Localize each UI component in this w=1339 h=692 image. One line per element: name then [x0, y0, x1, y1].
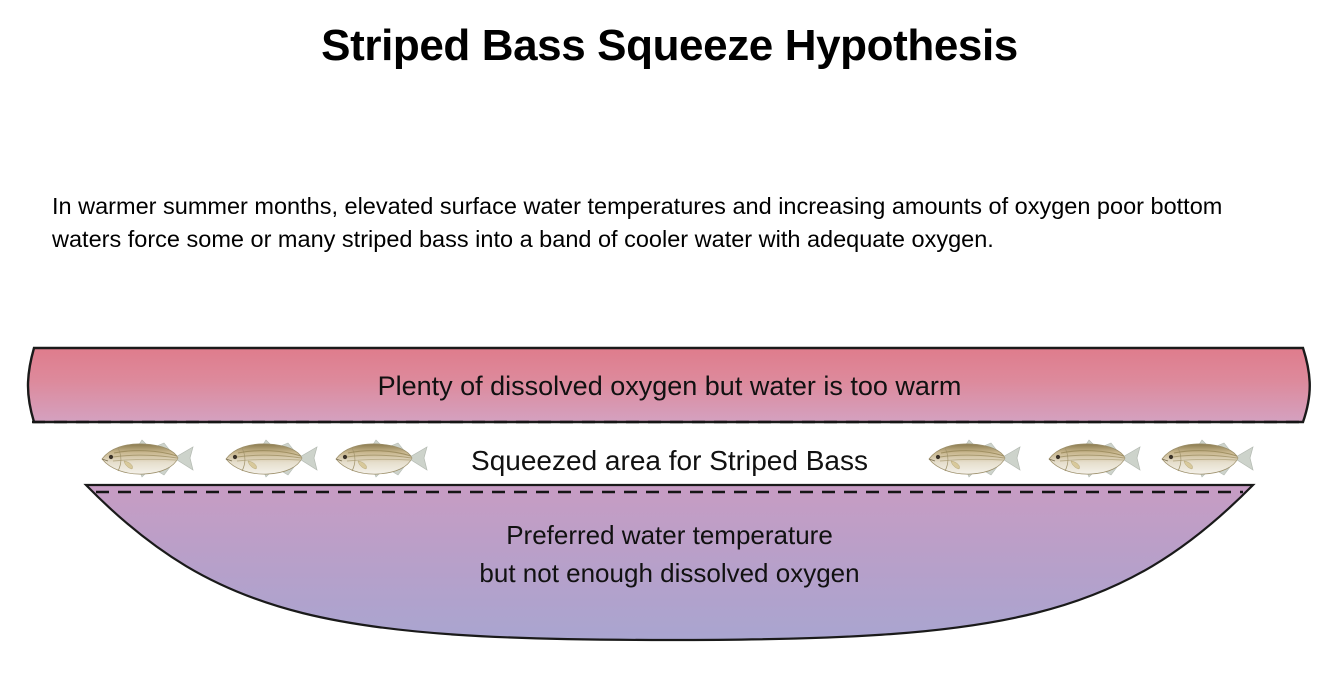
striped-bass-icon-2 — [222, 436, 320, 480]
cold-layer-label-line1: Preferred water temperature — [506, 520, 833, 550]
striped-bass-icon-3 — [332, 436, 430, 480]
intro-paragraph: In warmer summer months, elevated surfac… — [52, 190, 1292, 256]
warm-surface-layer-label: Plenty of dissolved oxygen but water is … — [0, 369, 1339, 403]
striped-bass-icon-5 — [1045, 436, 1143, 480]
cold-bottom-layer-label: Preferred water temperature but not enou… — [0, 516, 1339, 592]
cold-layer-label-line2: but not enough dissolved oxygen — [0, 554, 1339, 592]
striped-bass-icon-1 — [98, 436, 196, 480]
page-title: Striped Bass Squeeze Hypothesis — [0, 22, 1339, 70]
striped-bass-icon-6 — [1158, 436, 1256, 480]
striped-bass-squeeze-diagram: Plenty of dissolved oxygen but water is … — [0, 330, 1339, 660]
striped-bass-icon-4 — [925, 436, 1023, 480]
